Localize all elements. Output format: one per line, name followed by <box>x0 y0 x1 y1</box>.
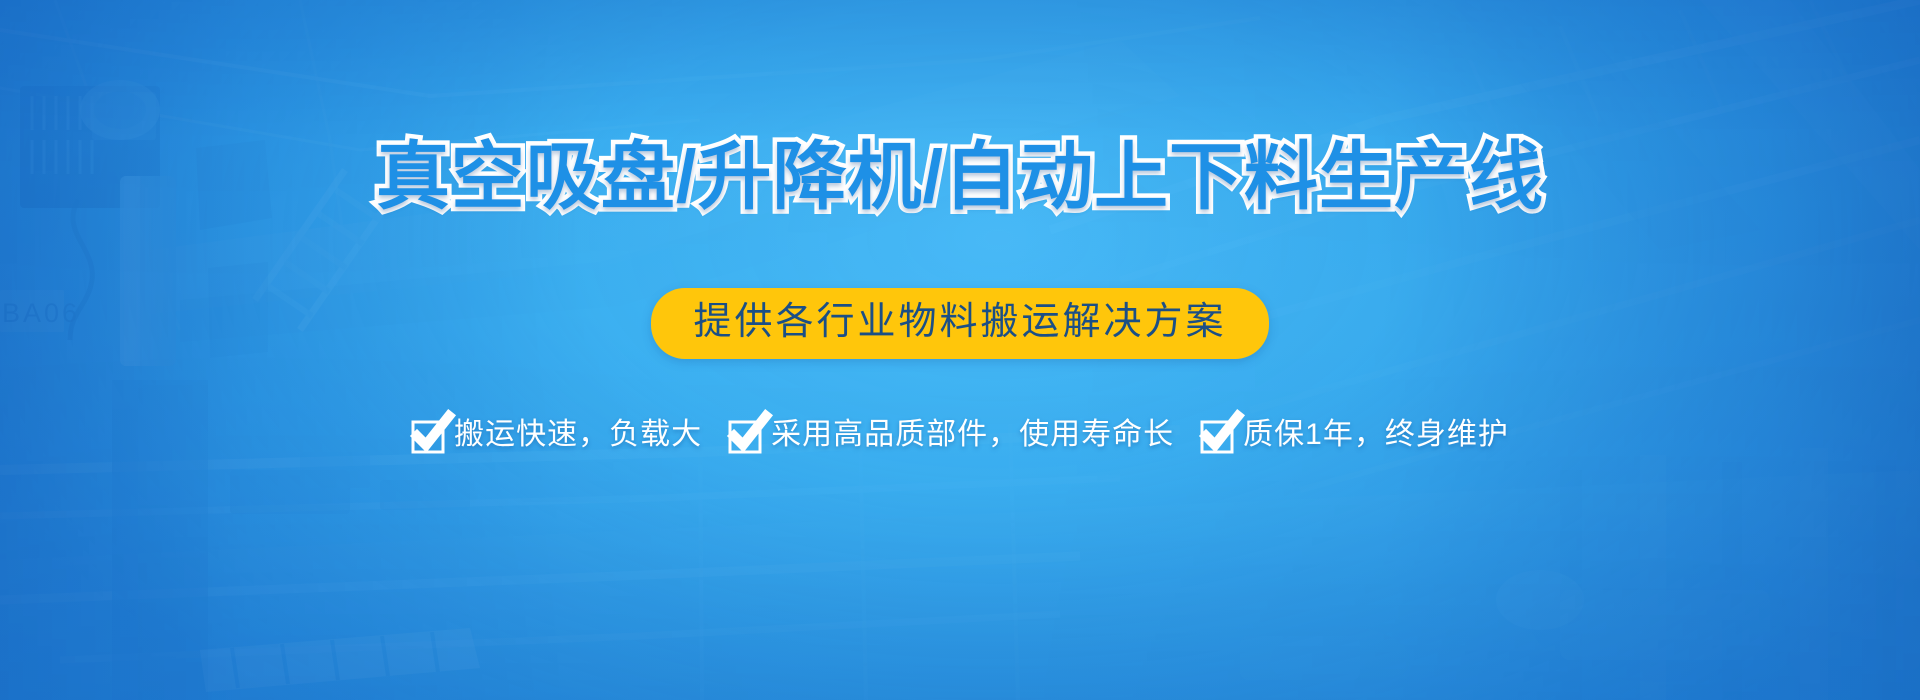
subtitle-badge: 提供各行业物料搬运解决方案 <box>651 288 1268 359</box>
feature-item-3: 质保1年，终身维护 <box>1200 418 1509 452</box>
subtitle-badge-container: 提供各行业物料搬运解决方案 <box>0 288 1920 359</box>
feature-list: 搬运快速，负载大 采用高品质部件，使用寿命长 质保1年，终身维护 <box>0 418 1920 452</box>
check-box-icon <box>1200 418 1234 452</box>
feature-item-2: 采用高品质部件，使用寿命长 <box>728 418 1174 452</box>
feature-label-2: 采用高品质部件，使用寿命长 <box>771 420 1174 450</box>
check-box-icon <box>728 418 762 452</box>
headline-container: 真空吸盘/升降机/自动上下料生产线 <box>0 138 1920 216</box>
banner-title: 真空吸盘/升降机/自动上下料生产线 <box>376 138 1544 216</box>
feature-label-3: 质保1年，终身维护 <box>1243 420 1509 450</box>
check-box-icon <box>411 418 445 452</box>
feature-item-1: 搬运快速，负载大 <box>411 418 702 452</box>
feature-label-1: 搬运快速，负载大 <box>454 420 702 450</box>
promo-banner: BA06 <box>0 0 1920 700</box>
